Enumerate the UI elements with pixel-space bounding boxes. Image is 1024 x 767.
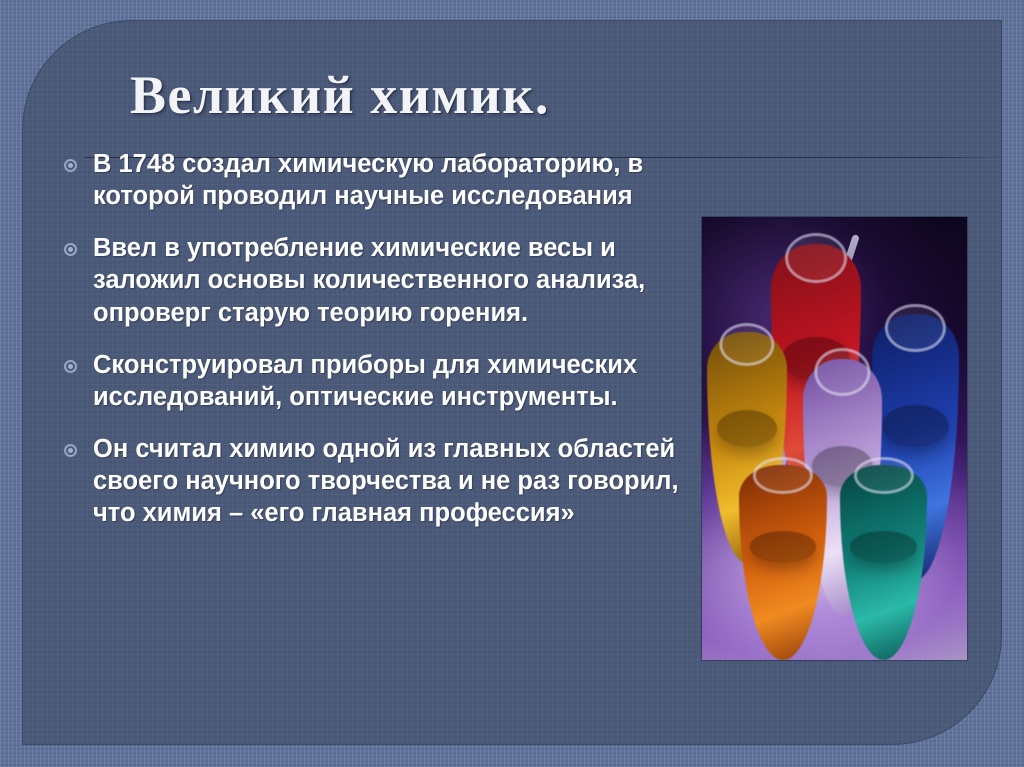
bullet-list: В 1748 создал химическую лабораторию, в …: [64, 148, 694, 549]
target-bullet-icon: [64, 243, 77, 256]
title-area: Великий химик.: [130, 64, 830, 144]
target-bullet-icon: [64, 159, 77, 172]
slide-inner-panel: Великий химик. В 1748 создал химическую …: [22, 20, 1002, 745]
list-item: Ввел в употребление химические весы и за…: [64, 232, 694, 328]
presentation-slide: Великий химик. В 1748 создал химическую …: [0, 0, 1024, 767]
flask-orange-shape: [739, 465, 826, 660]
list-item-text: Сконструировал приборы для химических ис…: [93, 349, 694, 413]
photo-image: [702, 217, 967, 660]
list-item-text: Ввел в употребление химические весы и за…: [93, 232, 694, 328]
flask-teal-shape: [840, 465, 927, 660]
chemistry-flasks-photo: [702, 217, 967, 660]
target-bullet-icon: [64, 444, 77, 457]
list-item: Сконструировал приборы для химических ис…: [64, 349, 694, 413]
target-bullet-icon: [64, 360, 77, 373]
list-item: В 1748 создал химическую лабораторию, в …: [64, 148, 694, 212]
list-item-text: Он считал химию одной из главных областе…: [93, 433, 694, 529]
list-item-text: В 1748 создал химическую лабораторию, в …: [93, 148, 694, 212]
list-item: Он считал химию одной из главных областе…: [64, 433, 694, 529]
page-title: Великий химик.: [130, 64, 830, 126]
